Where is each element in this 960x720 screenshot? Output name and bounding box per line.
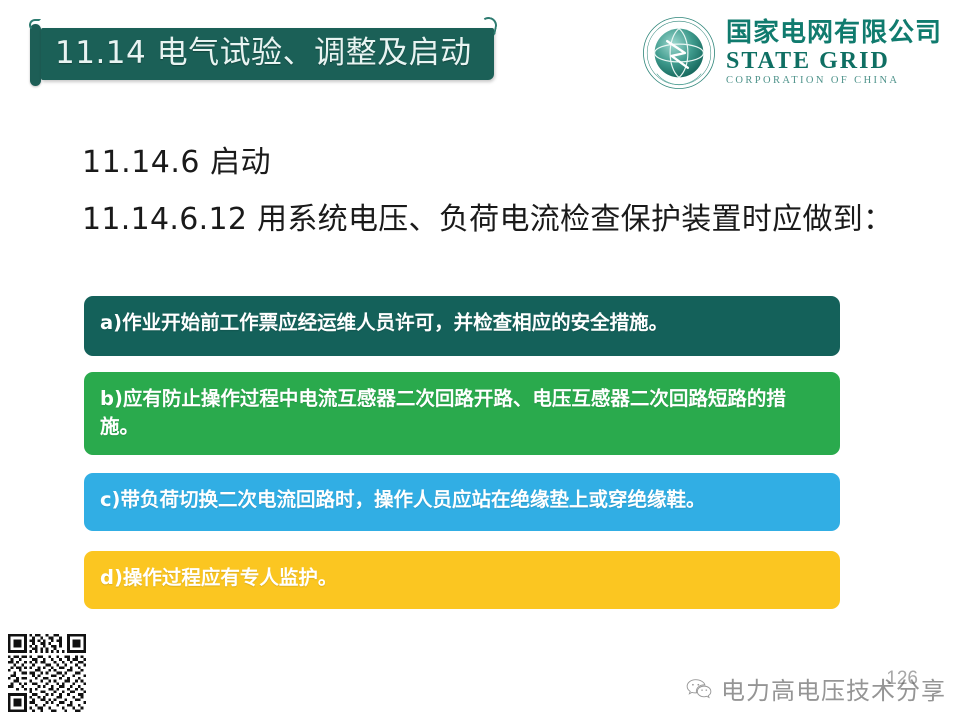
state-grid-logo: 国家电网有限公司 STATE GRID CORPORATION OF CHINA [642, 16, 942, 90]
requirement-text-a: a)作业开始前工作票应经运维人员许可，并检查相应的安全措施。 [100, 309, 824, 337]
requirement-item-c: c)带负荷切换二次电流回路时，操作人员应站在绝缘垫上或穿绝缘鞋。 [84, 473, 840, 531]
wechat-icon [686, 678, 712, 700]
logo-text-block: 国家电网有限公司 STATE GRID CORPORATION OF CHINA [726, 20, 942, 87]
pole-curl-icon [29, 19, 41, 31]
watermark-text: 电力高电压技术分享 [721, 671, 946, 706]
requirement-text-c: c)带负荷切换二次电流回路时，操作人员应站在绝缘垫上或穿绝缘鞋。 [100, 486, 824, 514]
logo-company-sub: CORPORATION OF CHINA [726, 76, 942, 87]
section-heading-2: 11.14.6.12 用系统电压、负荷电流检查保护装置时应做到： [82, 194, 893, 238]
banner-box: 11.14 电气试验、调整及启动 [41, 28, 494, 80]
logo-company-cn: 国家电网有限公司 [726, 20, 942, 46]
state-grid-globe-icon [642, 16, 716, 90]
requirement-text-d: d)操作过程应有专人监护。 [100, 564, 824, 592]
wechat-watermark: 电力高电压技术分享 [686, 671, 946, 706]
page-title: 11.14 电气试验、调整及启动 [55, 38, 472, 69]
requirement-item-d: d)操作过程应有专人监护。 [84, 551, 840, 609]
slide-title-banner: 11.14 电气试验、调整及启动 [30, 28, 494, 80]
banner-pole-decoration [30, 24, 41, 86]
requirement-list: a)作业开始前工作票应经运维人员许可，并检查相应的安全措施。 b)应有防止操作过… [84, 296, 840, 609]
banner-curl-icon [478, 15, 498, 35]
requirement-text-b: b)应有防止操作过程中电流互感器二次回路开路、电压互感器二次回路短路的措施。 [100, 385, 824, 442]
section-heading-1: 11.14.6 启动 [82, 137, 271, 181]
logo-company-en: STATE GRID [726, 49, 942, 73]
requirement-item-a: a)作业开始前工作票应经运维人员许可，并检查相应的安全措施。 [84, 296, 840, 356]
slide-canvas: 11.14 电气试验、调整及启动 国家电网有限公司 S [0, 0, 960, 720]
qr-code-icon[interactable] [8, 634, 86, 712]
requirement-item-b: b)应有防止操作过程中电流互感器二次回路开路、电压互感器二次回路短路的措施。 [84, 372, 840, 455]
